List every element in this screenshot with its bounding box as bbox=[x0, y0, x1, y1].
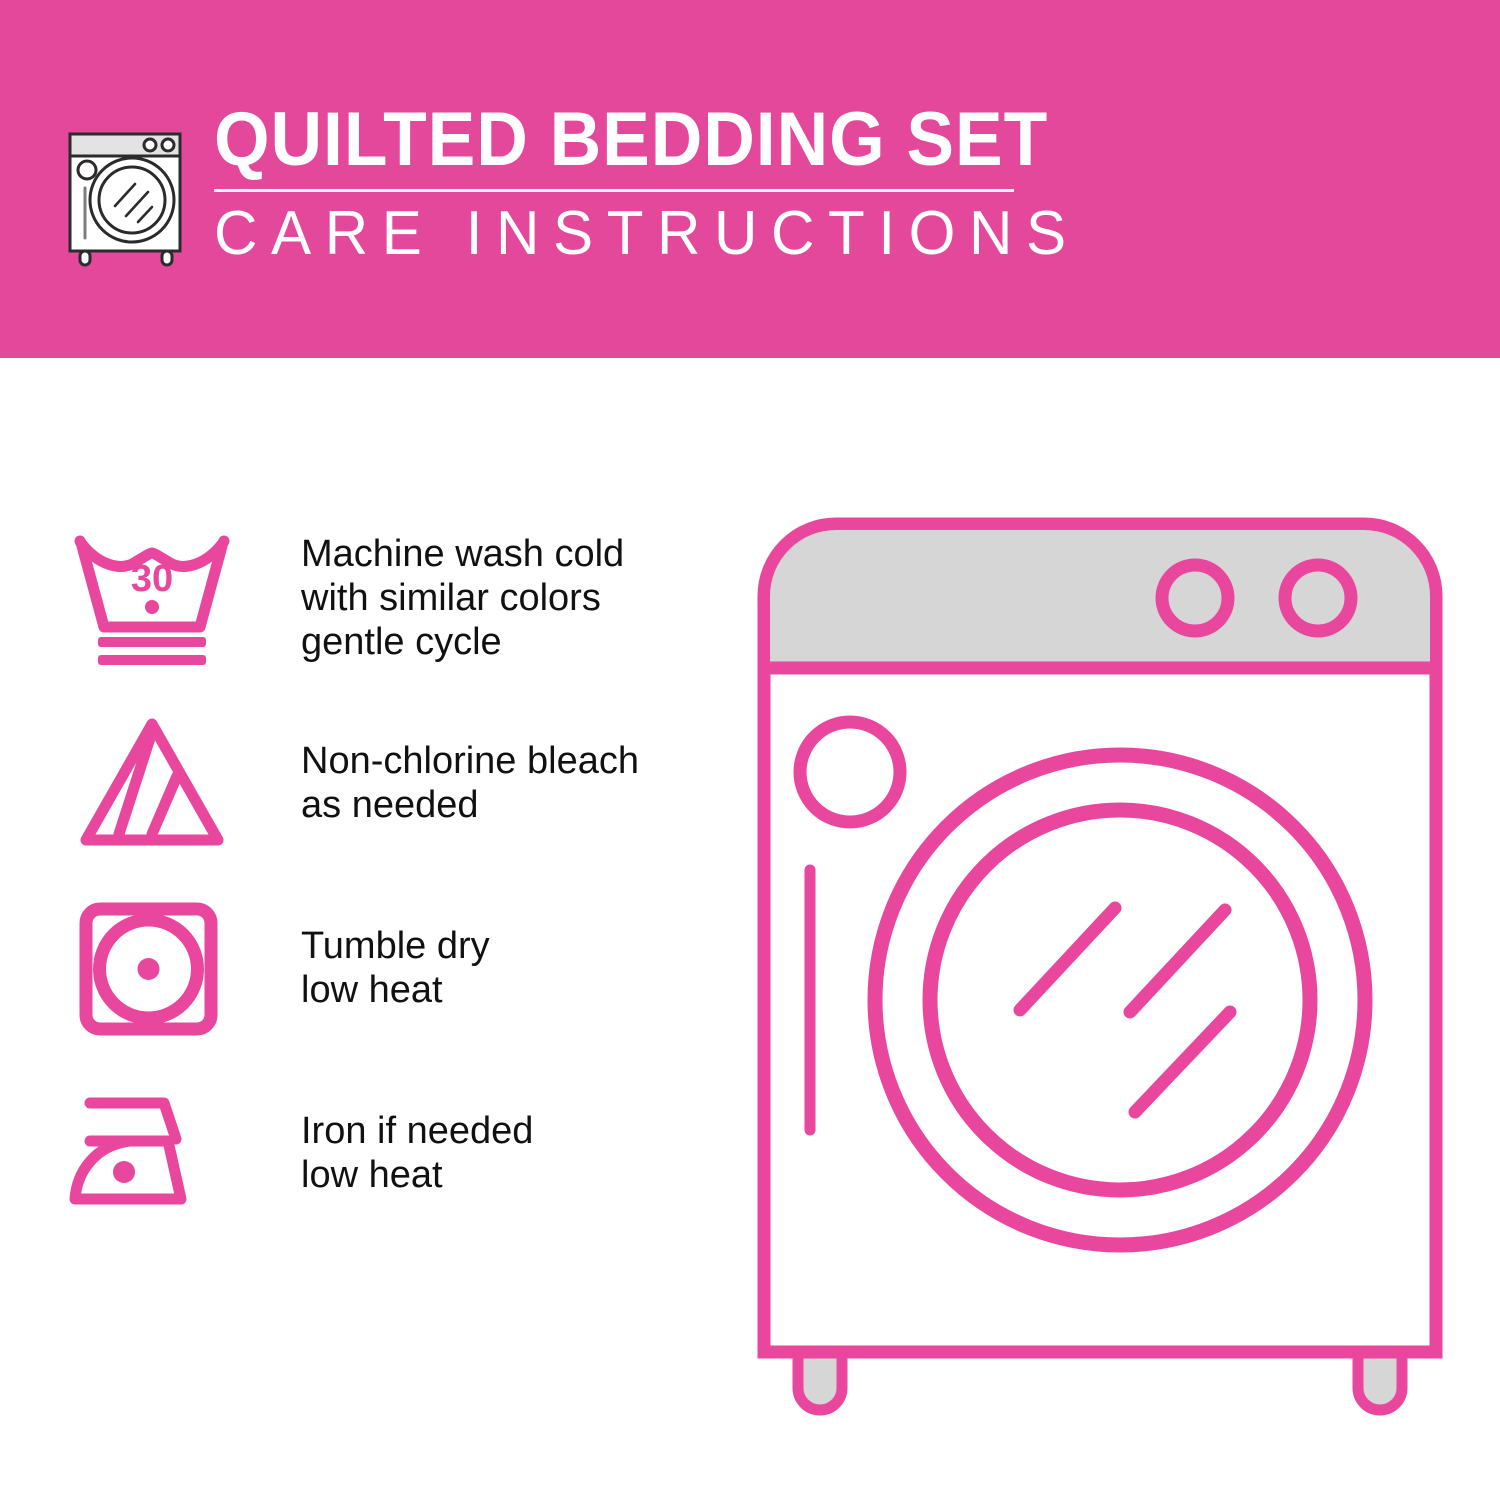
wash-tub-30-icon: 30 bbox=[68, 523, 236, 673]
page-subtitle: CARE INSTRUCTIONS bbox=[214, 201, 1080, 267]
wash-temperature-label: 30 bbox=[131, 558, 173, 600]
care-row-label: Iron if needed low heat bbox=[301, 1109, 533, 1197]
header-content: QUILTED BEDDING SET CARE INSTRUCTIONS bbox=[62, 100, 1106, 268]
care-symbol-wrap: 30 bbox=[68, 523, 243, 673]
care-row-bleach: Non-chlorine bleach as needed bbox=[68, 690, 708, 875]
page-title: QUILTED BEDDING SET bbox=[214, 100, 1053, 180]
care-row-label: Machine wash cold with similar colors ge… bbox=[301, 532, 624, 664]
care-row-tumble-dry: Tumble dry low heat bbox=[68, 875, 708, 1060]
bleach-triangle-icon bbox=[68, 710, 236, 855]
header-text-block: QUILTED BEDDING SET CARE INSTRUCTIONS bbox=[214, 100, 1106, 267]
care-instructions-list: 30 Machine wash cold with similar colors… bbox=[68, 505, 708, 1245]
care-row-iron: Iron if needed low heat bbox=[68, 1060, 708, 1245]
iron-low-heat-icon bbox=[68, 1083, 236, 1223]
care-row-label: Non-chlorine bleach as needed bbox=[301, 739, 639, 827]
care-row-label: Tumble dry low heat bbox=[301, 924, 490, 1012]
detergent-port-icon bbox=[800, 722, 900, 822]
drum-inner-ring bbox=[930, 810, 1310, 1190]
washing-machine-icon bbox=[62, 108, 192, 268]
large-washing-machine-illustration bbox=[740, 500, 1460, 1430]
care-symbol-wrap bbox=[68, 895, 243, 1040]
tumble-dry-low-icon bbox=[68, 895, 236, 1040]
control-knob-1[interactable] bbox=[1162, 565, 1228, 631]
control-knob-2[interactable] bbox=[1285, 565, 1351, 631]
care-symbol-wrap bbox=[68, 710, 243, 855]
machine-leg-left bbox=[798, 1350, 842, 1410]
machine-leg-right bbox=[1358, 1350, 1402, 1410]
care-symbol-wrap bbox=[68, 1083, 243, 1223]
header-banner: QUILTED BEDDING SET CARE INSTRUCTIONS bbox=[0, 0, 1500, 358]
care-row-wash: 30 Machine wash cold with similar colors… bbox=[68, 505, 708, 690]
title-divider bbox=[214, 189, 1014, 192]
